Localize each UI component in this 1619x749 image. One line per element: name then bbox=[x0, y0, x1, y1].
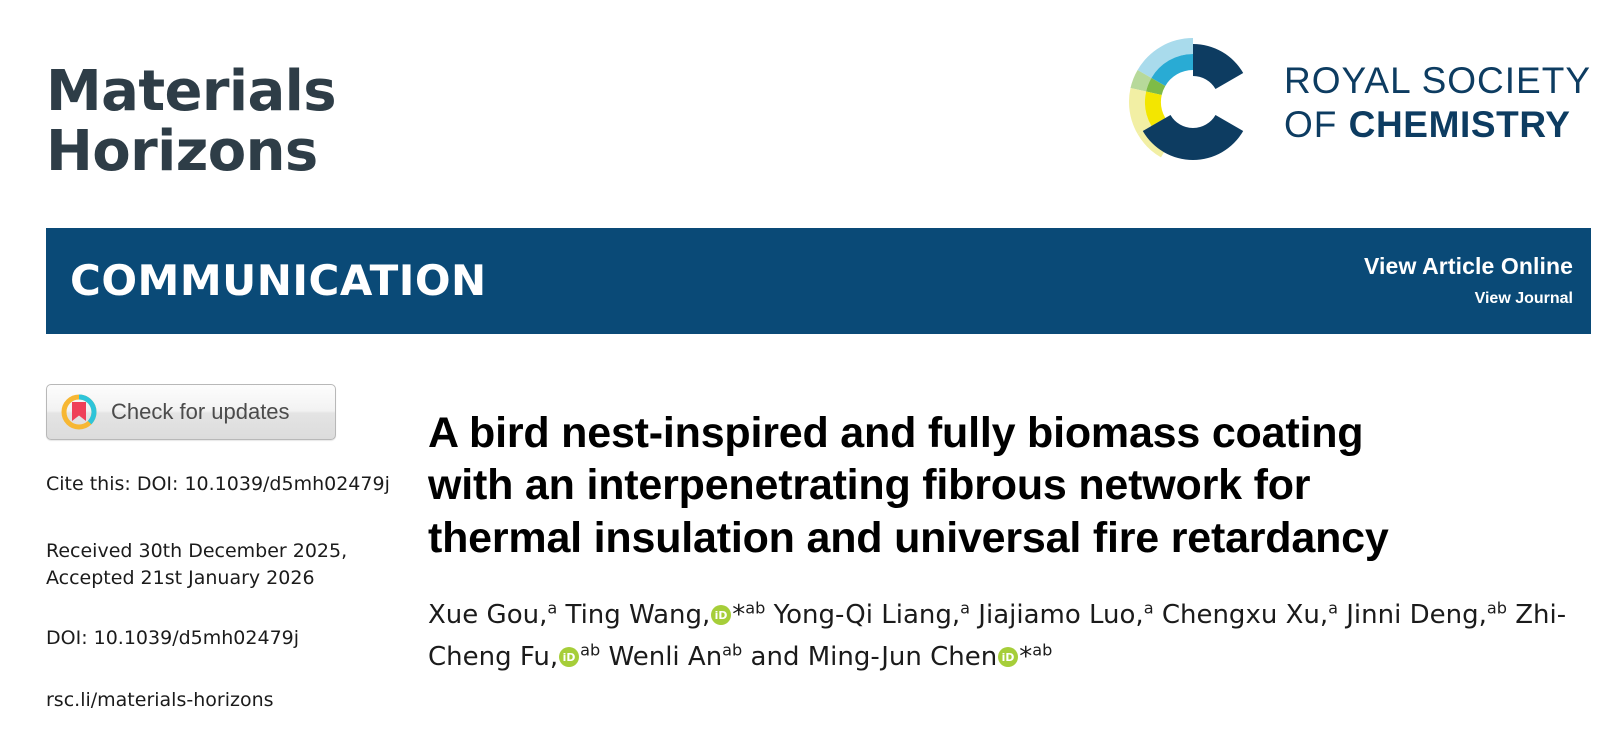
crossmark-icon bbox=[61, 394, 97, 430]
received-accepted-dates: Received 30th December 2025, Accepted 21… bbox=[46, 538, 398, 593]
svg-text:iD: iD bbox=[1002, 651, 1015, 664]
rsc-c-logo-icon bbox=[1118, 34, 1268, 170]
view-article-online-link[interactable]: View Article Online bbox=[1364, 252, 1573, 281]
author-list: Xue Gou,a Ting Wang,iD*ab Yong-Qi Liang,… bbox=[428, 594, 1593, 678]
rsc-wordmark-line2: OF CHEMISTRY bbox=[1284, 106, 1591, 143]
view-journal-link[interactable]: View Journal bbox=[1364, 289, 1573, 308]
author-affiliation: a bbox=[1328, 599, 1338, 618]
article-type-banner: COMMUNICATION View Article Online View J… bbox=[46, 228, 1591, 334]
author-name[interactable]: Ting Wang, bbox=[566, 600, 711, 630]
author-name[interactable]: Chengxu Xu, bbox=[1162, 600, 1328, 630]
author-name[interactable]: Xue Gou, bbox=[428, 600, 547, 630]
rsc-wordmark-chemistry: CHEMISTRY bbox=[1349, 104, 1571, 145]
check-for-updates-button[interactable]: Check for updates bbox=[46, 384, 336, 440]
author-affiliation: a bbox=[547, 599, 557, 618]
author-name[interactable]: and Ming-Jun Chen bbox=[751, 642, 998, 672]
journal-title: Materials Horizons bbox=[46, 62, 336, 183]
author-name[interactable]: Yong-Qi Liang, bbox=[774, 600, 961, 630]
author-affiliation: ab bbox=[1487, 599, 1507, 618]
author-name[interactable]: Jiajiamo Luo, bbox=[978, 600, 1143, 630]
author-affiliation: ab bbox=[1032, 641, 1052, 660]
author-name[interactable]: Jinni Deng, bbox=[1346, 600, 1487, 630]
royal-society-of-chemistry-logo: ROYAL SOCIETY OF CHEMISTRY bbox=[1118, 34, 1591, 170]
article-header-column: A bird nest-inspired and fully biomass c… bbox=[428, 378, 1593, 678]
check-for-updates-label: Check for updates bbox=[111, 399, 290, 425]
view-article-block[interactable]: View Article Online View Journal bbox=[1364, 252, 1573, 308]
author-affiliation: ab bbox=[745, 599, 765, 618]
masthead: Materials Horizons bbox=[0, 0, 1619, 222]
journal-website-link[interactable]: rsc.li/materials-horizons bbox=[46, 689, 398, 711]
orcid-icon[interactable]: iD bbox=[559, 647, 579, 667]
cite-this-doi: Cite this: DOI: 10.1039/d5mh02479j bbox=[46, 472, 398, 498]
article-title: A bird nest-inspired and fully biomass c… bbox=[428, 407, 1593, 564]
corresponding-author-marker: * bbox=[732, 600, 745, 630]
author-affiliation: a bbox=[960, 599, 970, 618]
author-affiliation: ab bbox=[722, 641, 742, 660]
rsc-wordmark-line1: ROYAL SOCIETY bbox=[1284, 62, 1591, 99]
author-affiliation: a bbox=[1144, 599, 1154, 618]
corresponding-author-marker: * bbox=[1019, 642, 1032, 672]
orcid-icon[interactable]: iD bbox=[998, 647, 1018, 667]
doi-text: DOI: 10.1039/d5mh02479j bbox=[46, 627, 398, 649]
article-metadata-column: Check for updates Cite this: DOI: 10.103… bbox=[46, 384, 398, 711]
article-type-label: COMMUNICATION bbox=[70, 256, 487, 305]
svg-text:iD: iD bbox=[563, 651, 576, 664]
rsc-wordmark-of: OF bbox=[1284, 104, 1349, 145]
svg-text:iD: iD bbox=[715, 609, 728, 622]
author-affiliation: ab bbox=[580, 641, 600, 660]
orcid-icon[interactable]: iD bbox=[711, 605, 731, 625]
author-name[interactable]: Wenli An bbox=[609, 642, 723, 672]
rsc-wordmark: ROYAL SOCIETY OF CHEMISTRY bbox=[1284, 62, 1591, 143]
